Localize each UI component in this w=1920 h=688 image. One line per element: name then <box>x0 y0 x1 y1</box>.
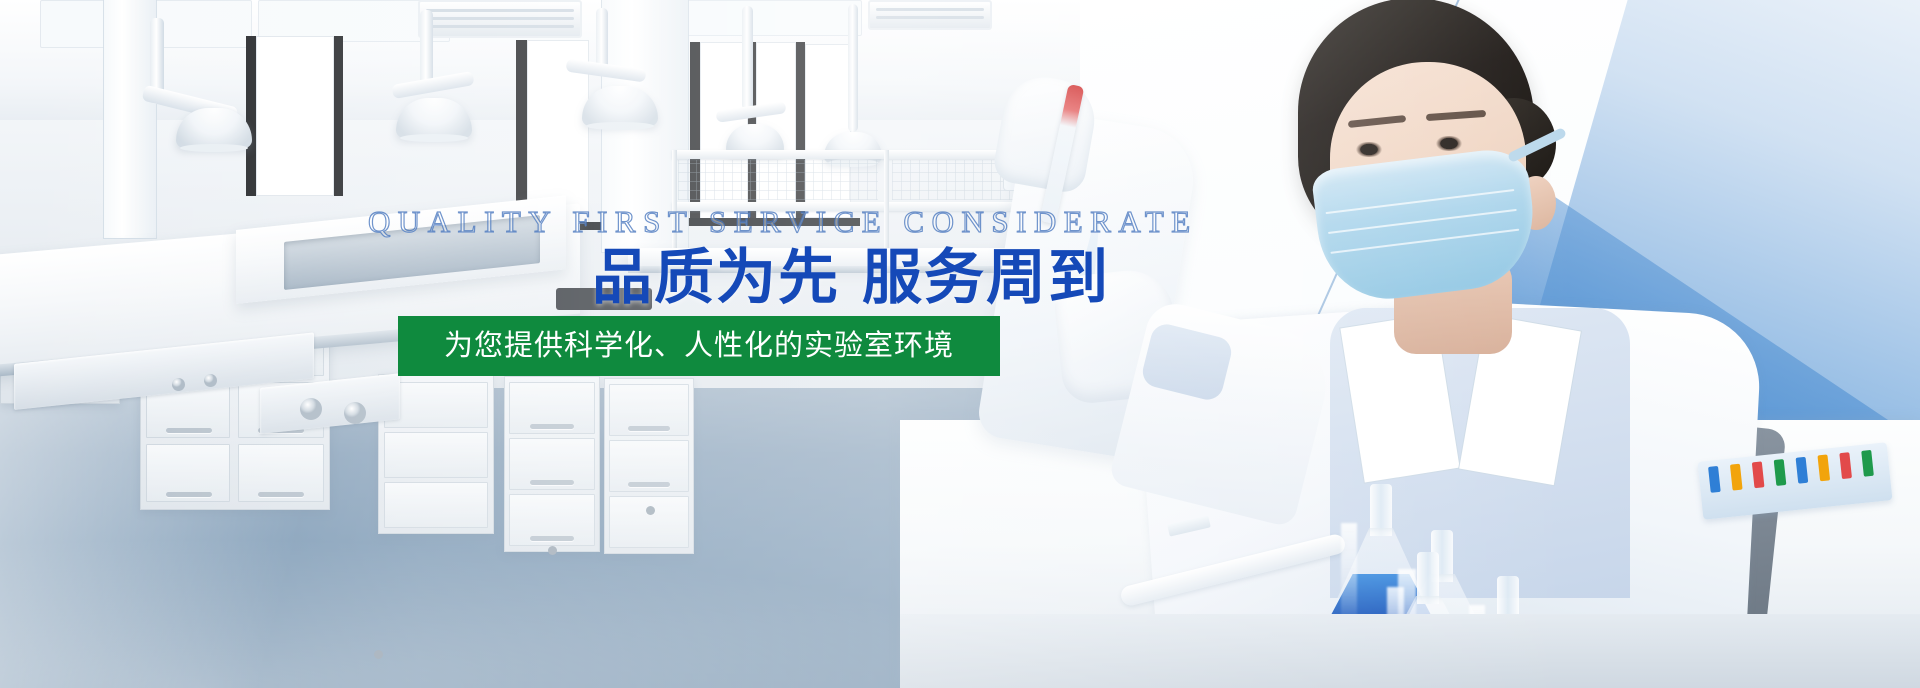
banner-subtitle-text: 为您提供科学化、人性化的实验室环境 <box>444 332 954 361</box>
banner-copy: QUALITY FIRST SERVICE CONSIDERATE 品质为先服务… <box>0 0 1920 688</box>
banner-eyebrow-english: QUALITY FIRST SERVICE CONSIDERATE <box>368 206 1198 237</box>
headline-left-phrase: 品质为先 <box>592 244 840 311</box>
headline-right-phrase: 服务周到 <box>862 244 1110 311</box>
hero-banner: QUALITY FIRST SERVICE CONSIDERATE 品质为先服务… <box>0 0 1920 688</box>
banner-headline: 品质为先服务周到 <box>592 248 1110 308</box>
banner-subtitle-bar: 为您提供科学化、人性化的实验室环境 <box>398 316 1000 376</box>
